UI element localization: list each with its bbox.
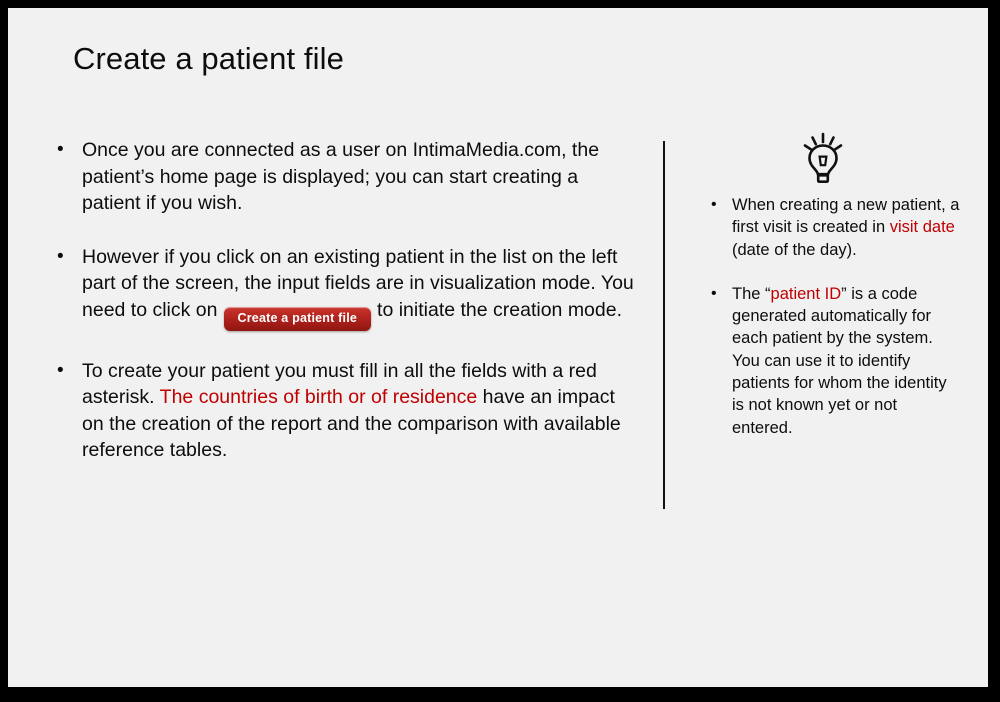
- body-text: ” is a code generated automatically for …: [732, 285, 947, 437]
- create-patient-file-button[interactable]: Create a patient file: [224, 307, 372, 331]
- bullet-marker-icon: •: [57, 358, 64, 384]
- column-divider: [663, 141, 665, 509]
- bullet-marker-icon: •: [57, 244, 64, 270]
- body-text: The “: [732, 285, 771, 303]
- body-text: to initiate the creation mode.: [377, 299, 622, 321]
- highlighted-term: The countries of birth or of residence: [160, 386, 478, 408]
- left-content-column: •Once you are connected as a user on Int…: [48, 137, 638, 464]
- right-bullet-text: The “patient ID” is a code generated aut…: [732, 283, 961, 439]
- left-bullet-existing-patient: •However if you click on an existing pat…: [48, 244, 638, 331]
- left-bullet-text: However if you click on an existing pati…: [82, 244, 638, 331]
- highlighted-term: visit date: [890, 218, 955, 236]
- page-title: Create a patient file: [73, 41, 344, 77]
- slide-canvas: Create a patient file •Once you are conn…: [8, 8, 988, 687]
- right-bullet-patient-id: •The “patient ID” is a code generated au…: [703, 283, 961, 439]
- bullet-marker-icon: •: [711, 283, 717, 305]
- right-bullet-first-visit: •When creating a new patient, a first vi…: [703, 194, 961, 261]
- left-bullet-required-fields: •To create your patient you must fill in…: [48, 358, 638, 464]
- slide-frame: Create a patient file •Once you are conn…: [0, 0, 1000, 702]
- left-bullet-connected-user: •Once you are connected as a user on Int…: [48, 137, 638, 217]
- right-bullet-text: When creating a new patient, a first vis…: [732, 194, 961, 261]
- bullet-marker-icon: •: [711, 194, 717, 216]
- left-bullet-text: To create your patient you must fill in …: [82, 358, 638, 464]
- body-text: (date of the day).: [732, 241, 857, 259]
- left-bullet-text: Once you are connected as a user on Inti…: [82, 137, 638, 217]
- right-tip-column: •When creating a new patient, a first vi…: [703, 194, 961, 461]
- body-text: Once you are connected as a user on Inti…: [82, 139, 599, 214]
- bullet-marker-icon: •: [57, 137, 64, 163]
- highlighted-term: patient ID: [771, 285, 842, 303]
- lightbulb-tip-icon: [800, 132, 846, 184]
